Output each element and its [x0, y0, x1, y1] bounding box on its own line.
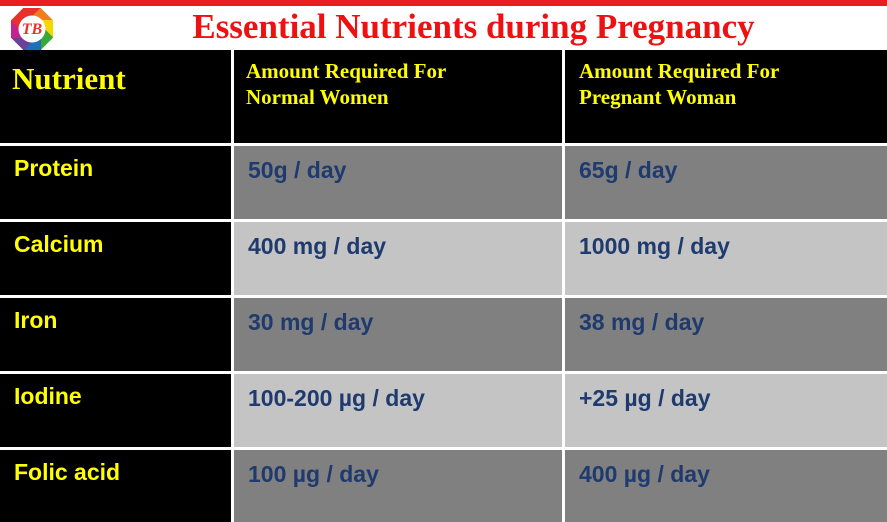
- header-label-pregnant-woman: Amount Required For Pregnant Woman: [579, 58, 779, 110]
- header-label-pregnant-woman-line1: Amount Required For: [579, 59, 779, 83]
- table-header-row: Nutrient Amount Required For Normal Wome…: [0, 50, 887, 143]
- header-label-normal-women: Amount Required For Normal Women: [246, 58, 446, 110]
- row-pregnant-cell: 1000 mg / day: [562, 222, 887, 298]
- row-nutrient-label: Folic acid: [14, 458, 120, 486]
- table-row: Calcium 400 mg / day 1000 mg / day: [0, 219, 887, 298]
- table-row: Protein 50g / day 65g / day: [0, 143, 887, 222]
- row-pregnant-value: 400 µg / day: [579, 459, 710, 489]
- logo-text: TB: [22, 21, 43, 38]
- row-nutrient-cell: Iodine: [0, 374, 231, 450]
- row-normal-cell: 400 mg / day: [231, 222, 562, 298]
- header-cell-nutrient: Nutrient: [0, 50, 231, 143]
- row-pregnant-value: +25 µg / day: [579, 383, 711, 413]
- header-cell-normal-women: Amount Required For Normal Women: [231, 50, 562, 143]
- header-label-nutrient: Nutrient: [12, 60, 126, 98]
- table-row: Folic acid 100 µg / day 400 µg / day: [0, 447, 887, 522]
- row-pregnant-cell: 65g / day: [562, 146, 887, 222]
- row-pregnant-cell: 400 µg / day: [562, 450, 887, 522]
- row-pregnant-cell: 38 mg / day: [562, 298, 887, 374]
- row-normal-value: 100-200 µg / day: [248, 383, 425, 413]
- row-nutrient-label: Iron: [14, 306, 57, 334]
- slide-root: TB Essential Nutrients during Pregnancy …: [0, 0, 887, 522]
- row-pregnant-value: 1000 mg / day: [579, 231, 730, 261]
- nutrients-table: Nutrient Amount Required For Normal Wome…: [0, 50, 887, 522]
- row-nutrient-label: Calcium: [14, 230, 103, 258]
- row-pregnant-cell: +25 µg / day: [562, 374, 887, 450]
- table-row: Iodine 100-200 µg / day +25 µg / day: [0, 371, 887, 450]
- page-title: Essential Nutrients during Pregnancy: [66, 6, 881, 48]
- row-normal-value: 400 mg / day: [248, 231, 386, 261]
- row-nutrient-cell: Iron: [0, 298, 231, 374]
- row-pregnant-value: 38 mg / day: [579, 307, 704, 337]
- row-normal-value: 100 µg / day: [248, 459, 379, 489]
- row-nutrient-label: Protein: [14, 154, 93, 182]
- tb-rosette-logo: TB: [8, 7, 56, 51]
- header-label-normal-women-line1: Amount Required For: [246, 59, 446, 83]
- row-nutrient-cell: Protein: [0, 146, 231, 222]
- row-normal-value: 30 mg / day: [248, 307, 373, 337]
- row-nutrient-cell: Calcium: [0, 222, 231, 298]
- row-normal-value: 50g / day: [248, 155, 346, 185]
- table-row: Iron 30 mg / day 38 mg / day: [0, 295, 887, 374]
- row-nutrient-label: Iodine: [14, 382, 82, 410]
- header-label-pregnant-woman-line2: Pregnant Woman: [579, 85, 736, 109]
- row-normal-cell: 50g / day: [231, 146, 562, 222]
- row-normal-cell: 100-200 µg / day: [231, 374, 562, 450]
- row-normal-cell: 100 µg / day: [231, 450, 562, 522]
- header-label-normal-women-line2: Normal Women: [246, 85, 389, 109]
- row-normal-cell: 30 mg / day: [231, 298, 562, 374]
- row-pregnant-value: 65g / day: [579, 155, 677, 185]
- row-nutrient-cell: Folic acid: [0, 450, 231, 522]
- header-cell-pregnant-woman: Amount Required For Pregnant Woman: [562, 50, 887, 143]
